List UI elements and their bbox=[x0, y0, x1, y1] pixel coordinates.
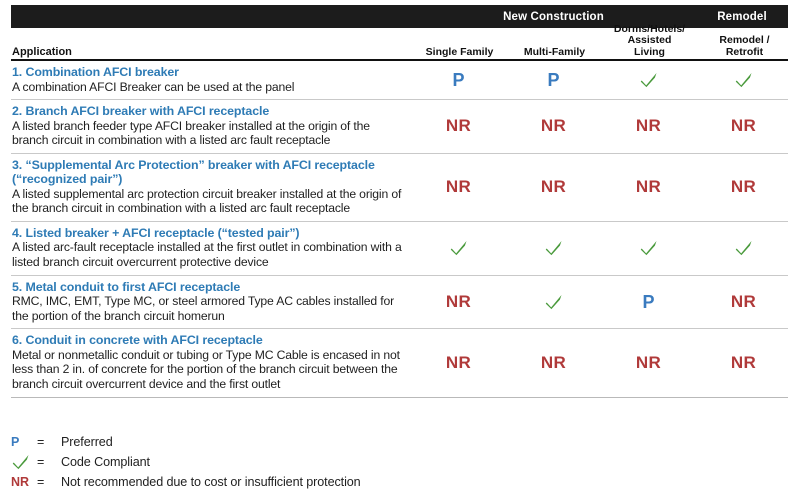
value-cell-single-family: NR bbox=[411, 329, 506, 396]
application-description: Metal or nonmetallic conduit or tubing o… bbox=[12, 348, 405, 392]
value-cell-single-family bbox=[411, 222, 506, 275]
column-header-remodel-line1: Remodel / bbox=[697, 35, 792, 47]
table-row: 3. “Supplemental Arc Protection” breaker… bbox=[11, 154, 788, 222]
application-title: 6. Conduit in concrete with AFCI recepta… bbox=[12, 333, 405, 348]
column-header-single-family: Single Family bbox=[412, 47, 507, 60]
application-title: 1. Combination AFCI breaker bbox=[12, 65, 405, 80]
column-header-dorms-line3: Living bbox=[602, 47, 697, 59]
table-row: 1. Combination AFCI breakerA combination… bbox=[11, 61, 788, 100]
check-icon bbox=[734, 238, 754, 258]
legend-symbol bbox=[11, 452, 37, 472]
value-cell-dorms-hotels-assisted-living: P bbox=[601, 276, 696, 329]
application-description: A listed supplemental arc protection cir… bbox=[12, 187, 405, 216]
value-cell-dorms-hotels-assisted-living bbox=[601, 61, 696, 99]
application-description: A listed arc-fault receptacle installed … bbox=[12, 240, 405, 269]
check-icon bbox=[639, 70, 659, 90]
value-cell-dorms-hotels-assisted-living bbox=[601, 222, 696, 275]
legend-item: P=Preferred bbox=[11, 432, 788, 452]
application-cell: 1. Combination AFCI breakerA combination… bbox=[11, 61, 411, 99]
application-title: 3. “Supplemental Arc Protection” breaker… bbox=[12, 158, 405, 187]
value-cell-remodel-retrofit: NR bbox=[696, 100, 791, 153]
legend-equals: = bbox=[37, 455, 61, 469]
legend-item: NR=Not recommended due to cost or insuff… bbox=[11, 472, 788, 492]
application-cell: 4. Listed breaker + AFCI receptacle (“te… bbox=[11, 222, 411, 275]
application-cell: 2. Branch AFCI breaker with AFCI recepta… bbox=[11, 100, 411, 153]
value-cell-dorms-hotels-assisted-living: NR bbox=[601, 329, 696, 396]
legend-description: Not recommended due to cost or insuffici… bbox=[61, 475, 361, 489]
column-header-remodel-line2: Retrofit bbox=[697, 47, 792, 59]
value-cell-multi-family: NR bbox=[506, 329, 601, 396]
value-cell-multi-family: NR bbox=[506, 100, 601, 153]
table-row: 6. Conduit in concrete with AFCI recepta… bbox=[11, 329, 788, 397]
column-header-row: Application Single Family Multi-Family D… bbox=[11, 30, 788, 61]
application-cell: 6. Conduit in concrete with AFCI recepta… bbox=[11, 329, 411, 396]
group-header-new-construction: New Construction bbox=[411, 11, 696, 23]
afci-comparison-table: New Construction Remodel Application Sin… bbox=[0, 0, 800, 493]
value-cell-remodel-retrofit bbox=[696, 61, 791, 99]
application-description: A listed branch feeder type AFCI breaker… bbox=[12, 119, 405, 148]
check-icon bbox=[734, 70, 754, 90]
column-header-application: Application bbox=[11, 46, 412, 59]
column-header-multi-family: Multi-Family bbox=[507, 47, 602, 60]
legend-symbol: P bbox=[11, 435, 37, 449]
value-cell-remodel-retrofit: NR bbox=[696, 154, 791, 221]
application-description: A combination AFCI Breaker can be used a… bbox=[12, 80, 405, 95]
legend-description: Preferred bbox=[61, 435, 113, 449]
legend: P=Preferred=Code CompliantNR=Not recomme… bbox=[11, 432, 788, 492]
legend-description: Code Compliant bbox=[61, 455, 150, 469]
value-cell-remodel-retrofit: NR bbox=[696, 276, 791, 329]
application-title: 5. Metal conduit to first AFCI receptacl… bbox=[12, 280, 405, 295]
value-cell-dorms-hotels-assisted-living: NR bbox=[601, 100, 696, 153]
legend-symbol: NR bbox=[11, 475, 37, 489]
check-icon bbox=[639, 238, 659, 258]
value-cell-multi-family bbox=[506, 276, 601, 329]
value-cell-single-family: NR bbox=[411, 100, 506, 153]
value-cell-multi-family: P bbox=[506, 61, 601, 99]
value-cell-remodel-retrofit: NR bbox=[696, 329, 791, 396]
application-title: 2. Branch AFCI breaker with AFCI recepta… bbox=[12, 104, 405, 119]
application-cell: 5. Metal conduit to first AFCI receptacl… bbox=[11, 276, 411, 329]
value-cell-remodel-retrofit bbox=[696, 222, 791, 275]
check-icon bbox=[544, 292, 564, 312]
application-description: RMC, IMC, EMT, Type MC, or steel armored… bbox=[12, 294, 405, 323]
legend-equals: = bbox=[37, 475, 61, 489]
column-header-dorms-line2: Assisted bbox=[602, 35, 697, 47]
check-icon bbox=[11, 452, 31, 472]
value-cell-multi-family bbox=[506, 222, 601, 275]
column-header-remodel-retrofit: Remodel / Retrofit bbox=[697, 35, 792, 59]
value-cell-single-family: NR bbox=[411, 154, 506, 221]
value-cell-dorms-hotels-assisted-living: NR bbox=[601, 154, 696, 221]
legend-item: =Code Compliant bbox=[11, 452, 788, 472]
application-title: 4. Listed breaker + AFCI receptacle (“te… bbox=[12, 226, 405, 241]
group-header-remodel: Remodel bbox=[696, 11, 788, 23]
legend-equals: = bbox=[37, 435, 61, 449]
value-cell-multi-family: NR bbox=[506, 154, 601, 221]
value-cell-single-family: NR bbox=[411, 276, 506, 329]
check-icon bbox=[544, 238, 564, 258]
table-row: 2. Branch AFCI breaker with AFCI recepta… bbox=[11, 100, 788, 154]
table-row: 5. Metal conduit to first AFCI receptacl… bbox=[11, 276, 788, 330]
value-cell-single-family: P bbox=[411, 61, 506, 99]
column-header-dorms-hotels-assisted-living: Dorms/Hotels/ Assisted Living bbox=[602, 24, 697, 60]
check-icon bbox=[449, 238, 469, 258]
application-cell: 3. “Supplemental Arc Protection” breaker… bbox=[11, 154, 411, 221]
table-row: 4. Listed breaker + AFCI receptacle (“te… bbox=[11, 222, 788, 276]
table-body: 1. Combination AFCI breakerA combination… bbox=[11, 61, 788, 398]
